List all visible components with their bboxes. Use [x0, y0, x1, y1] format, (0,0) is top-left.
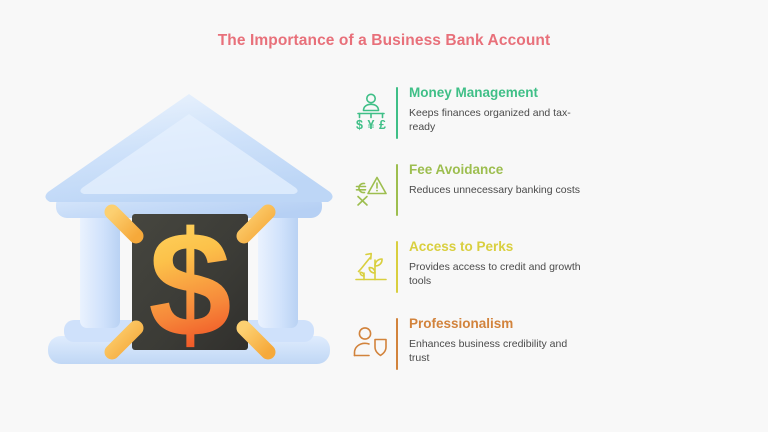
svg-text:$: $	[148, 200, 231, 368]
feature-title: Access to Perks	[409, 239, 648, 255]
svg-text:$: $	[356, 118, 363, 132]
feature-accent-rule	[396, 87, 398, 139]
person-currency-icon: $ ¥ £	[348, 84, 394, 136]
feature-title: Professionalism	[409, 316, 648, 332]
feature-description: Provides access to credit and growth too…	[409, 260, 587, 288]
page-title: The Importance of a Business Bank Accoun…	[0, 32, 768, 50]
slide-canvas: The Importance of a Business Bank Accoun…	[0, 0, 768, 432]
feature-item-access-to-perks[interactable]: Access to Perks Provides access to credi…	[348, 238, 648, 300]
svg-text:£: £	[379, 118, 386, 132]
person-shield-icon	[348, 315, 394, 367]
warning-triangle-currency-icon	[348, 161, 394, 213]
feature-title: Money Management	[409, 85, 648, 101]
feature-item-money-management[interactable]: $ ¥ £ Money Management Keeps finances or…	[348, 84, 648, 146]
dollar-sign: $	[148, 200, 231, 368]
feature-description: Reduces unnecessary banking costs	[409, 183, 587, 197]
feature-accent-rule	[396, 241, 398, 293]
bank-illustration: $	[34, 88, 344, 378]
feature-list: $ ¥ £ Money Management Keeps finances or…	[348, 84, 648, 377]
feature-item-professionalism[interactable]: Professionalism Enhances business credib…	[348, 315, 648, 377]
svg-text:¥: ¥	[368, 118, 375, 132]
feature-description: Enhances business credibility and trust	[409, 337, 587, 365]
feature-description: Keeps finances organized and tax-ready	[409, 106, 587, 134]
feature-title: Fee Avoidance	[409, 162, 648, 178]
feature-accent-rule	[396, 164, 398, 216]
growth-plant-arrow-icon	[348, 238, 394, 290]
feature-accent-rule	[396, 318, 398, 370]
feature-item-fee-avoidance[interactable]: Fee Avoidance Reduces unnecessary bankin…	[348, 161, 648, 223]
